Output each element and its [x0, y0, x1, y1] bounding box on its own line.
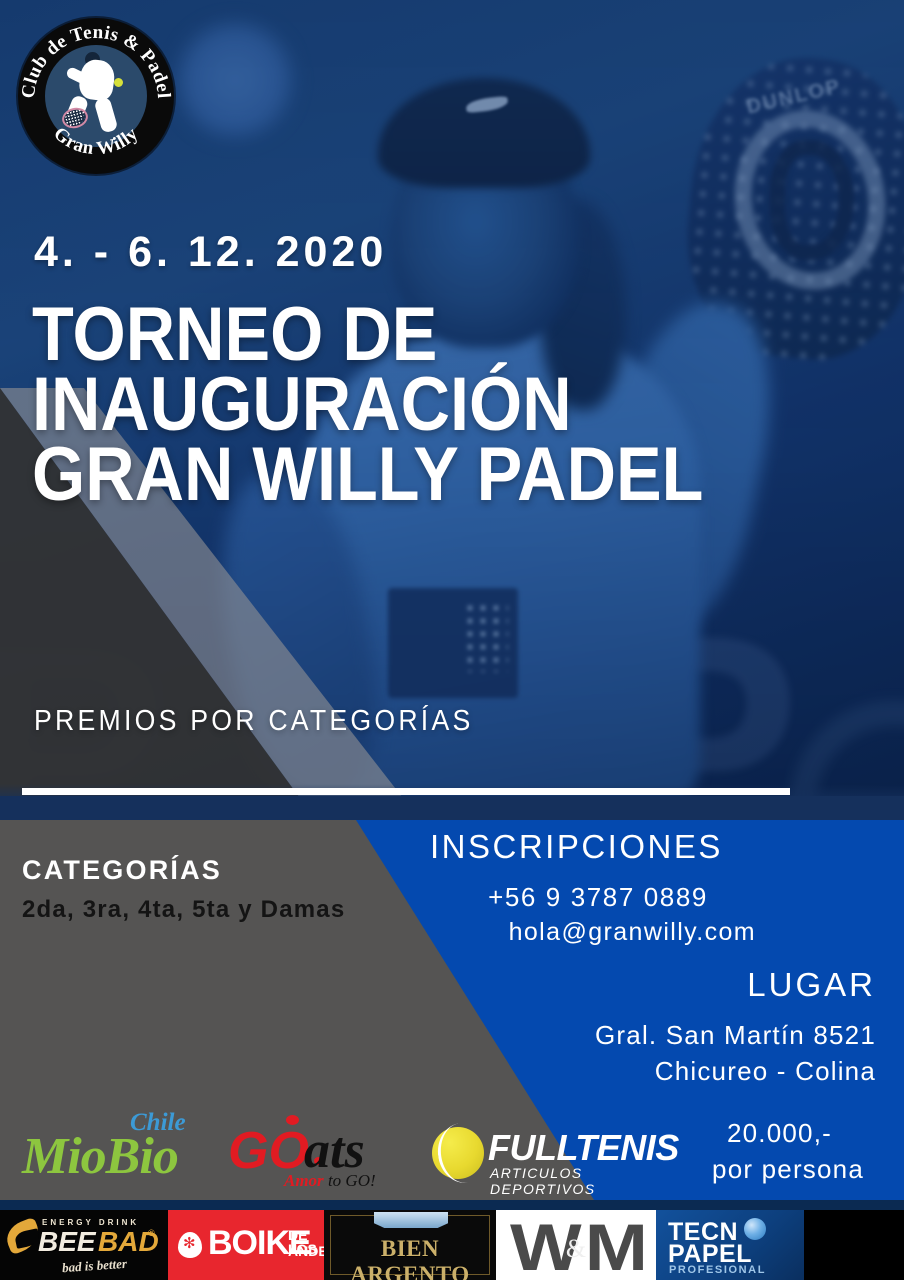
goats-tagline: Amor to GO!	[284, 1171, 376, 1191]
divider-rule	[22, 788, 790, 795]
wm-letter-right: M	[585, 1214, 648, 1280]
categories-list: 2da, 3ra, 4ta, 5ta y Damas	[22, 896, 345, 924]
goats-tagline-accent: Amor	[284, 1171, 324, 1190]
sponsor-cell-tecnopapel: TECN PAPEL PROFESIONAL	[656, 1210, 804, 1280]
tournament-poster: P P DUNLOP	[0, 0, 904, 1280]
sponsor-logo-miobio: MioBio Chile	[22, 1109, 197, 1187]
prizes-subtitle: PREMIOS POR CATEGORÍAS	[34, 705, 473, 738]
sponsor-cell-bien-argento: BIEN ARGENTO	[324, 1210, 496, 1280]
bien-argento-name: BIEN ARGENTO	[324, 1236, 496, 1280]
beebad-tagline: bad is better	[62, 1256, 128, 1276]
ribbon-icon	[374, 1212, 448, 1228]
venue-heading: LUGAR	[747, 966, 876, 1004]
miobio-country: Chile	[130, 1109, 186, 1137]
venue-address-line-2: Chicureo - Colina	[655, 1056, 876, 1087]
hero-section: P P DUNLOP	[0, 0, 904, 820]
sponsor-cell-empty	[804, 1210, 904, 1280]
sponsor-strip: ENERGY DRINK BEE BAD ® bad is better BOI…	[0, 1210, 904, 1280]
sponsor-logo-fulltenis: FULLTENIS ARTICULOS DEPORTIVOS	[432, 1121, 632, 1187]
sponsor-cell-wm: W & M	[496, 1210, 656, 1280]
beebad-name-1: BEE	[38, 1226, 96, 1258]
title-line-3: GRAN WILLY PADEL	[32, 440, 797, 510]
registration-heading: INSCRIPCIONES	[430, 828, 723, 866]
goats-tagline-rest: to GO!	[324, 1171, 376, 1190]
categories-heading: CATEGORÍAS	[22, 855, 222, 886]
fulltenis-subtitle: ARTICULOS DEPORTIVOS	[490, 1165, 632, 1197]
tennis-ball-icon	[432, 1127, 484, 1179]
fulltenis-name: FULLTENIS	[488, 1127, 679, 1169]
event-date: 4. - 6. 12. 2020	[34, 228, 387, 277]
registration-email[interactable]: hola@granwilly.com	[509, 918, 756, 947]
sponsor-logos-row: MioBio Chile GO ats Amor to GO! FULLTENI…	[0, 1095, 904, 1205]
venue-address-line-1: Gral. San Martín 8521	[595, 1020, 876, 1051]
circle-o-icon	[744, 1218, 766, 1240]
sponsor-cell-beebad: ENERGY DRINK BEE BAD ® bad is better	[0, 1210, 168, 1280]
droplet-icon	[178, 1232, 202, 1258]
beebad-registered-mark: ®	[148, 1228, 155, 1238]
title-line-1: TORNEO DE	[32, 300, 797, 370]
boike-sub-line-2: ANDES	[288, 1244, 324, 1258]
sponsor-cell-boike: BOIKE DE LOS ANDES	[168, 1210, 324, 1280]
sponsor-logo-goats: GO ats Amor to GO!	[228, 1113, 393, 1193]
page-title: TORNEO DE INAUGURACIÓN GRAN WILLY PADEL	[32, 300, 882, 510]
title-line-2: INAUGURACIÓN	[32, 370, 797, 440]
registration-phone[interactable]: +56 9 3787 0889	[488, 882, 708, 913]
wm-ampersand: &	[566, 1234, 586, 1264]
tecnopapel-line-3: PROFESIONAL	[669, 1264, 766, 1276]
